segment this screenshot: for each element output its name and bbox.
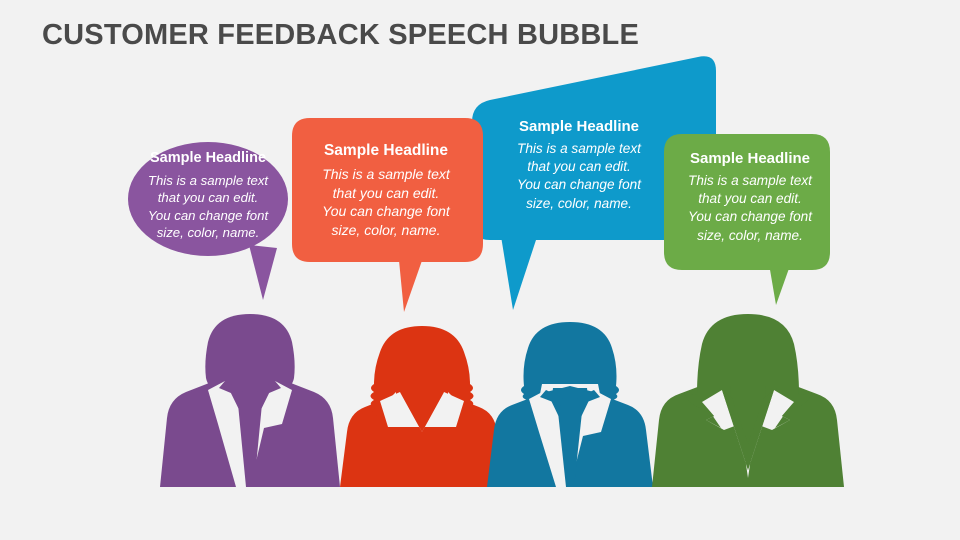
person-1-man-silhouette[interactable] [160,314,340,487]
slide-canvas: CUSTOMER FEEDBACK SPEECH BUBBLE [0,0,960,540]
person-4-woman-silhouette[interactable] [652,314,844,487]
people-silhouettes-group [0,0,960,540]
people-silhouettes-svg [0,0,960,540]
person-3-man-silhouette[interactable] [487,322,653,487]
person-2-woman-silhouette[interactable] [340,326,504,487]
person-4-neck [729,386,767,406]
